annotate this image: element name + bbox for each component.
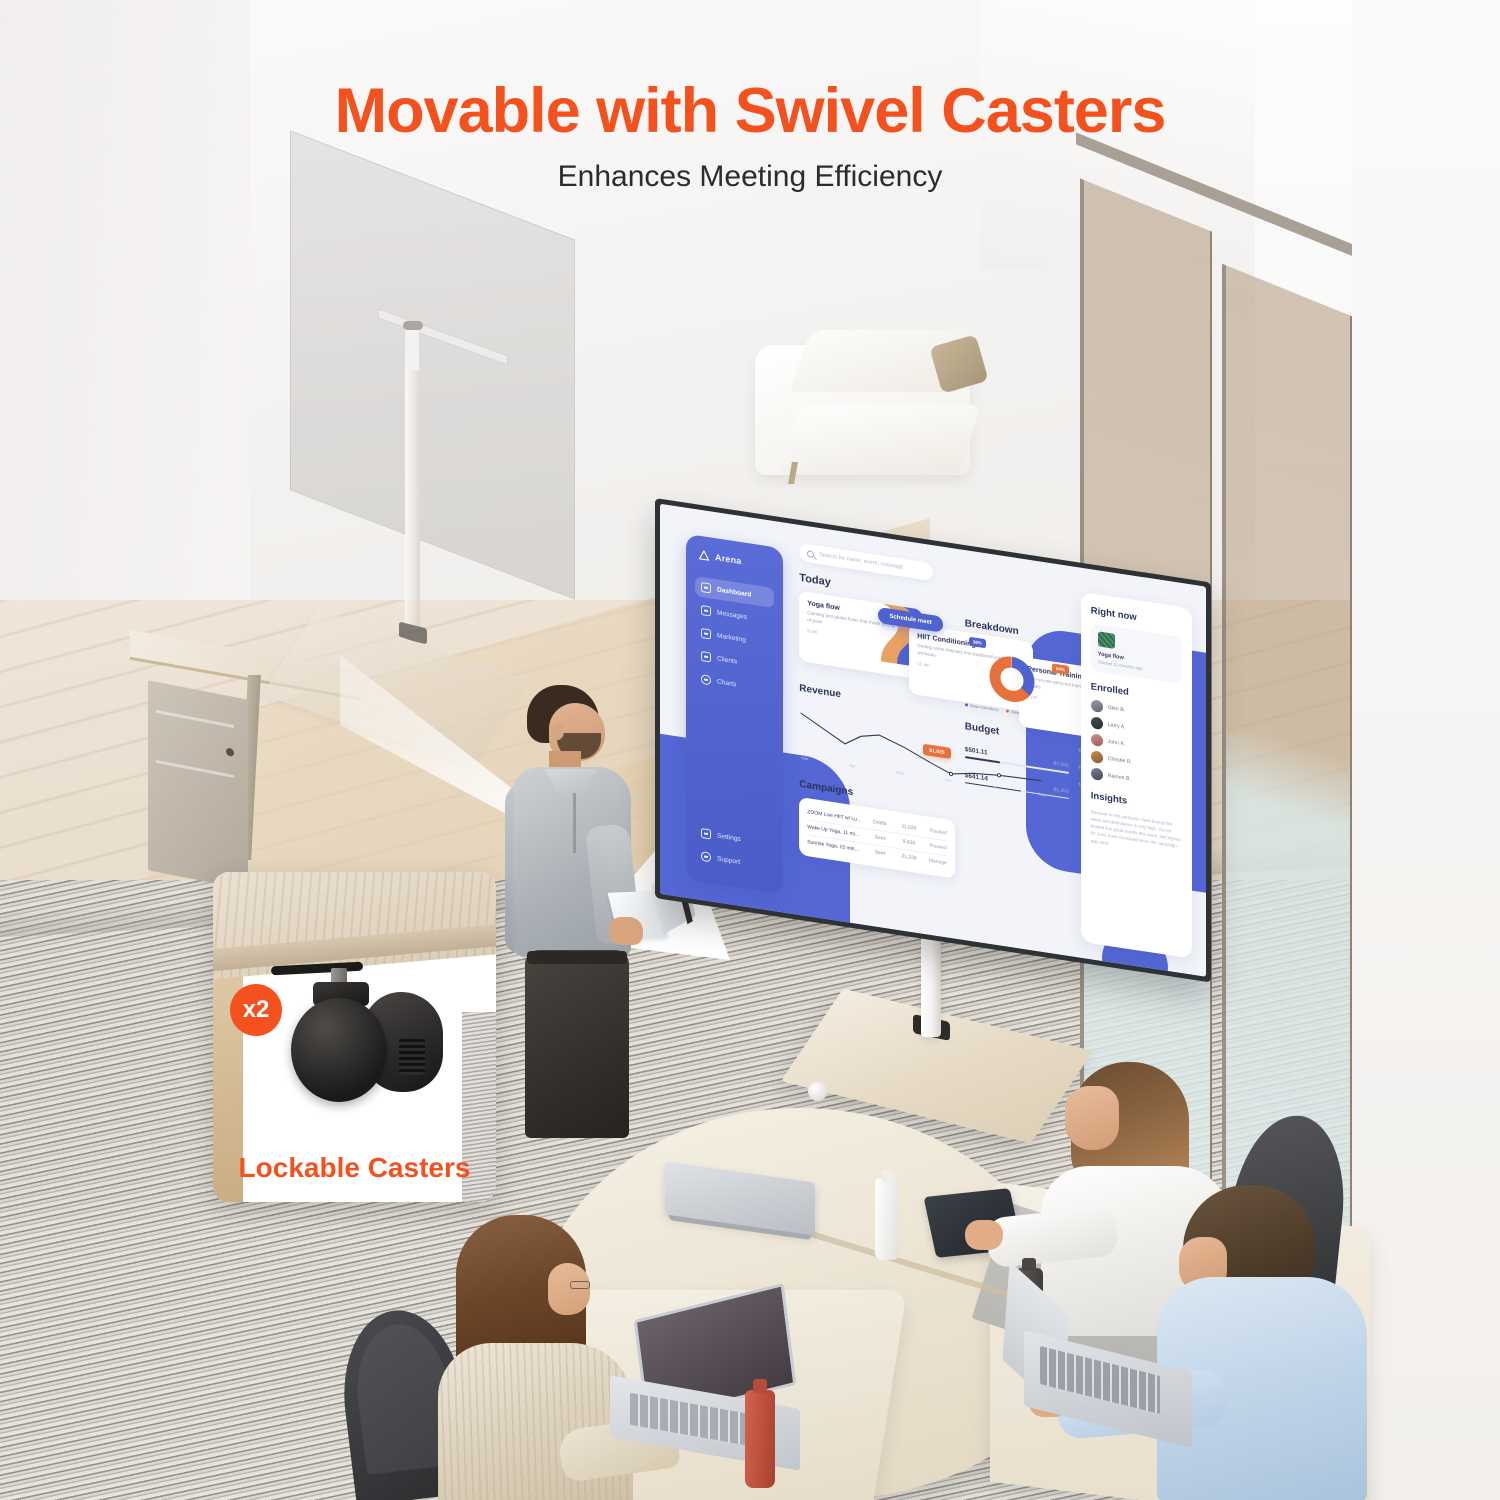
breakdown-donut-chart [981,649,1043,708]
sidebar-label-settings: Settings [717,832,741,843]
today-cards: Schedule meet Yoga flow [799,591,955,701]
search-input[interactable]: Search for name, event, message [819,552,903,571]
sidebar-label-clients: Clients [717,655,737,665]
enrolled-name: John K. [1108,739,1126,748]
brand-name: Arena [715,552,742,566]
class-card-yoga[interactable]: Yoga flow Calming and gentle flows that … [799,591,923,680]
arena-logo-icon [698,549,710,563]
enrolled-name: Ramon B. [1108,773,1131,783]
enrolled-name: Christie R. [1108,756,1132,766]
campaign-col2: 21,228 [897,853,920,863]
dashboard-sidebar: Arena Dashboard Messages Marketing [686,534,783,895]
tv-display: Arena Dashboard Messages Marketing [655,498,1211,898]
quantity-badge: x2 [230,984,282,1036]
search-icon [807,550,814,558]
revenue-x-tick-2: May [896,770,904,776]
sidebar-label-support: Support [717,855,740,866]
insights-text: Demand in this particular class during t… [1091,808,1182,857]
campaign-status[interactable]: Paused [927,827,947,836]
ghost-mount-cap [403,321,423,330]
breakdown-label-blue: 36% [969,637,986,649]
woman-left-face [548,1263,590,1315]
dashboard-app: Arena Dashboard Messages Marketing [660,504,1206,977]
dashboard-right-panel: Right now Yoga flow Started 11 minutes a… [1081,592,1192,959]
avatar [1091,699,1103,713]
avatar [1091,767,1103,781]
enrolled-name: Glen B. [1108,705,1125,714]
caster-feature-inset: x2 Lockable Casters [213,872,496,1202]
avatar [1091,750,1103,764]
campaign-col2: 11,020 [897,823,920,833]
sidebar-label-dashboard: Dashboard [717,586,751,598]
breakdown-label-orange: 64% [1052,663,1069,675]
class-thumbnail [1098,631,1115,649]
campaign-col1: Sent [868,848,891,858]
tv-bezel: Arena Dashboard Messages Marketing [655,498,1211,983]
campaign-name: Sunrise Yoga, 15 minute morning... [807,839,862,853]
presenter-legs [525,950,629,1138]
eyeglasses [570,1281,590,1289]
campaign-col1: Drafts [868,818,891,828]
gear-icon [701,828,711,840]
avatar [1091,716,1103,730]
campaign-status[interactable]: Manage [927,857,947,866]
sidebar-label-charts: Charts [717,678,736,688]
enrolled-name: Larry A. [1108,722,1126,731]
woman-right-face [1065,1086,1119,1150]
headline-block: Movable with Swivel Casters Enhances Mee… [0,78,1500,194]
page-title: Movable with Swivel Casters [0,78,1500,144]
chart-icon [701,674,711,686]
campaign-col1: Sent [868,833,891,843]
envelope-icon [701,605,711,617]
lifebuoy-icon [701,851,711,863]
brand: Arena [695,548,774,572]
revenue-x-tick-4: Jul [992,784,997,790]
white-water-bottle [875,1178,899,1260]
avatar [1091,733,1103,747]
campaign-status[interactable]: Paused [927,842,947,851]
open-laptop-left [610,1300,805,1455]
caster-wheel-on-base [808,1082,827,1101]
dashboard-icon [701,582,711,594]
megaphone-icon [701,628,711,640]
presenter-hand [609,917,643,945]
ghost-tv-panel [290,130,575,599]
sofa-seat-cushion [779,405,982,475]
woman-right-hand [965,1220,1003,1250]
inset-label: Lockable Casters [213,1152,496,1184]
sidebar-label-marketing: Marketing [717,632,746,643]
presenter-ear [551,723,564,740]
folder-icon [701,651,711,663]
office-scene: Arena Dashboard Messages Marketing [0,0,1500,1500]
presenter-shirt-placket [573,793,576,853]
revenue-x-tick-0: Mar [801,755,808,761]
campaign-col2: 9,430 [897,838,920,848]
right-now-card[interactable]: Yoga flow Started 11 minutes ago [1091,623,1182,684]
red-water-bottle [745,1390,775,1488]
caster-wheel-front [291,998,387,1102]
sidebar-label-messages: Messages [717,609,747,621]
presenter-belt [527,951,627,964]
revenue-x-tick-1: Apr [849,762,856,768]
open-laptop-right [1000,1285,1190,1435]
revenue-x-tick-3: Jun [945,777,952,783]
revenue-x-tick-5: Aug [1038,791,1045,797]
dashboard-main: Search for name, event, message Today Sc… [783,523,1081,958]
filing-cabinet [148,680,248,889]
page-subtitle: Enhances Meeting Efficiency [0,160,1500,194]
caster-lock-lever [399,1037,425,1075]
tv-screen: Arena Dashboard Messages Marketing [660,504,1206,977]
dashboard-main-left: Search for name, event, message Today Sc… [799,543,955,925]
